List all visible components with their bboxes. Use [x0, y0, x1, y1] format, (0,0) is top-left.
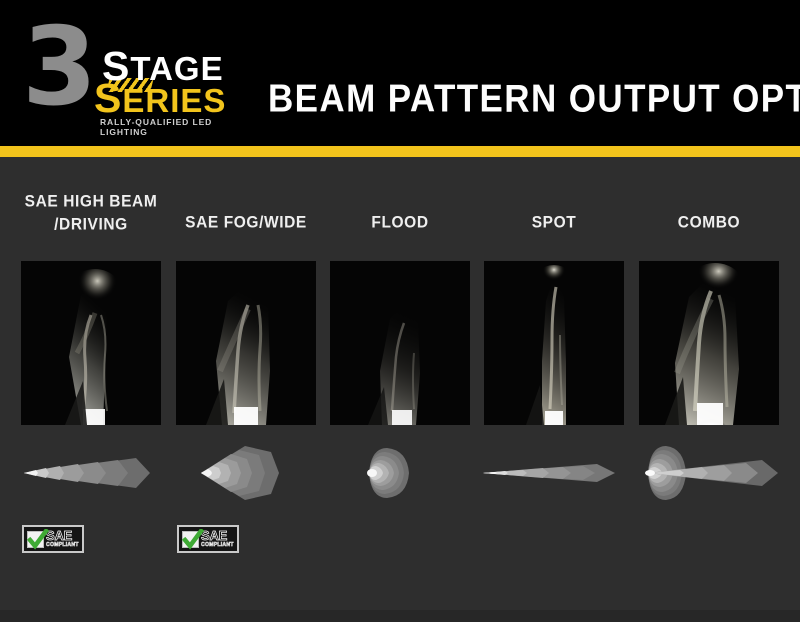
column-label-line1: SPOT — [479, 211, 629, 234]
beam-photo-image — [21, 261, 161, 425]
beam-photo-sae-high-beam-driving — [21, 261, 161, 425]
beam-diagram-wide — [171, 442, 321, 504]
logo-series-cap: S — [94, 75, 122, 121]
beam-pattern-infographic: 3 STAGE SERIES RALLY-QUALIFIED LED LIGHT… — [0, 0, 800, 622]
sae-badge-subtitle: COMPLIANT — [46, 543, 79, 548]
beam-photo-combo — [639, 261, 779, 425]
column-label: SAE HIGH BEAM /DRIVING — [16, 190, 166, 236]
column-label-line1: COMBO — [634, 211, 784, 234]
beam-diagram-flood — [325, 442, 475, 504]
column-label-line1: SAE FOG/WIDE — [171, 211, 321, 234]
page-title: BEAM PATTERN OUTPUT OPTIONS — [268, 77, 800, 122]
beam-shape — [325, 442, 475, 504]
column-label-line1: FLOOD — [325, 211, 475, 234]
beam-shape — [171, 442, 321, 504]
column-flood: FLOOD — [325, 157, 475, 610]
header-bar: 3 STAGE SERIES RALLY-QUALIFIED LED LIGHT… — [0, 0, 800, 146]
beam-diagram-spot — [479, 442, 629, 504]
accent-divider — [0, 146, 800, 157]
logo-series-rest: ERIES — [122, 82, 226, 119]
sae-badge-inner: SAE COMPLIANT — [24, 527, 82, 551]
columns-container: SAE HIGH BEAM /DRIVING — [0, 157, 800, 610]
sae-badge-subtitle: COMPLIANT — [201, 543, 234, 548]
column-label-line2: /DRIVING — [16, 213, 166, 236]
column-label-line1: SAE HIGH BEAM — [16, 190, 166, 213]
sae-badge-inner: SAE COMPLIANT — [179, 527, 237, 551]
checkmark-glyph — [182, 529, 204, 551]
sae-compliant-badge: SAE COMPLIANT — [22, 525, 84, 553]
beam-diagram-driving — [16, 442, 166, 504]
beam-photo-image — [484, 261, 624, 425]
logo-word-series: SERIES — [94, 82, 226, 117]
beam-diagram-combo — [634, 442, 784, 504]
sae-badge-title: SAE — [46, 529, 79, 542]
beam-shape — [16, 442, 166, 504]
beam-photo-sae-fog-wide — [176, 261, 316, 425]
beam-photo-image — [176, 261, 316, 425]
sae-badge-text: SAE COMPLIANT — [201, 529, 234, 548]
sae-compliant-badge: SAE COMPLIANT — [177, 525, 239, 553]
stage-series-logo: 3 STAGE SERIES RALLY-QUALIFIED LED LIGHT… — [22, 22, 252, 134]
check-icon — [27, 531, 44, 548]
column-label: SAE FOG/WIDE — [171, 211, 321, 234]
column-label: FLOOD — [325, 211, 475, 234]
checkmark-glyph — [27, 529, 49, 551]
column-label: SPOT — [479, 211, 629, 234]
column-label: COMBO — [634, 211, 784, 234]
beam-shape — [634, 442, 784, 504]
beam-photo-image — [639, 261, 779, 425]
footer-strip — [0, 610, 800, 622]
check-icon — [182, 531, 199, 548]
sae-badge-title: SAE — [201, 529, 234, 542]
column-sae-high-beam-driving: SAE HIGH BEAM /DRIVING — [16, 157, 166, 610]
column-combo: COMBO — [634, 157, 784, 610]
beam-shape — [479, 442, 629, 504]
beam-photo-image — [330, 261, 470, 425]
column-spot: SPOT — [479, 157, 629, 610]
column-sae-fog-wide: SAE FOG/WIDE — [171, 157, 321, 610]
beam-photo-spot — [484, 261, 624, 425]
logo-tagline: RALLY-QUALIFIED LED LIGHTING — [100, 117, 252, 137]
sae-badge-text: SAE COMPLIANT — [46, 529, 79, 548]
beam-photo-flood — [330, 261, 470, 425]
